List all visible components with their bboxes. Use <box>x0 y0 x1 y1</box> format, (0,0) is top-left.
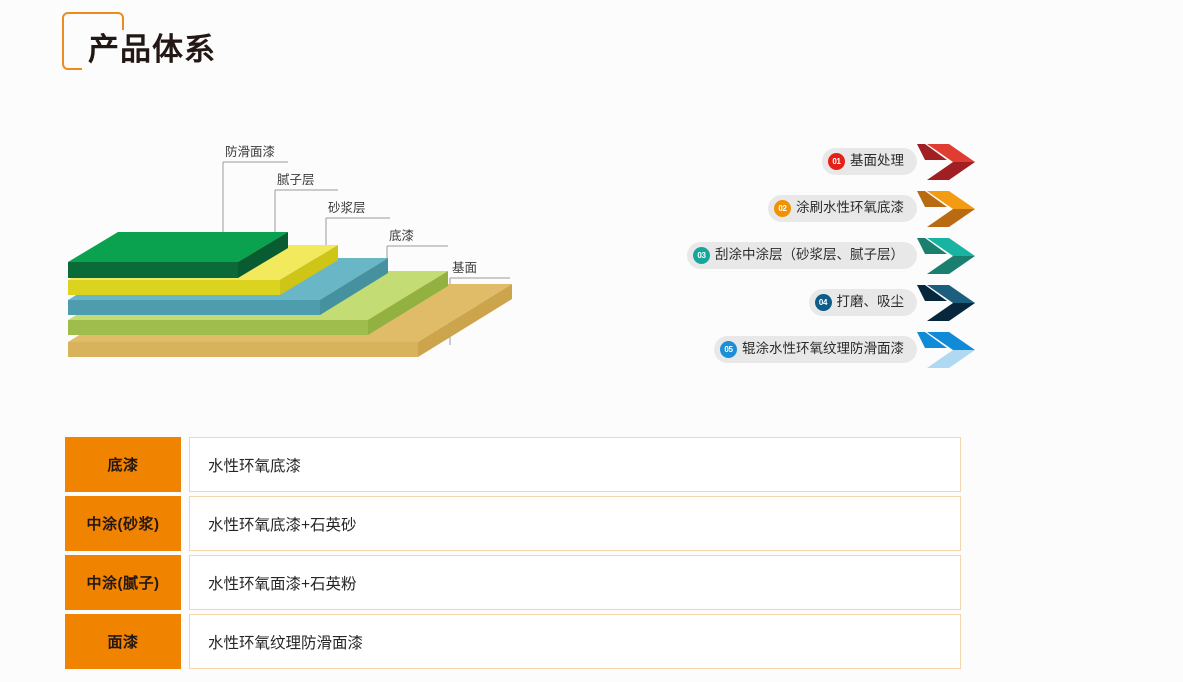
chevron-arrow-icon-1 <box>917 142 975 186</box>
process-step-4[interactable]: 04 打磨、吸尘 <box>655 286 975 318</box>
table-row: 中涂(砂浆) 水性环氧底漆+石英砂 <box>65 496 961 551</box>
spec-value-midcoat-putty: 水性环氧面漆+石英粉 <box>189 555 961 610</box>
layer-label-topcoat: 防滑面漆 <box>225 146 275 159</box>
process-step-1-label: 基面处理 <box>850 154 904 168</box>
process-step-5-pill[interactable]: 05 辊涂水性环氧纹理防滑面漆 <box>714 336 917 363</box>
process-step-3-pill[interactable]: 03 刮涂中涂层（砂浆层、腻子层） <box>687 242 917 269</box>
step-number-badge-05: 05 <box>720 341 737 358</box>
product-spec-table: 底漆 水性环氧底漆 中涂(砂浆) 水性环氧底漆+石英砂 中涂(腻子) 水性环氧面… <box>65 437 961 673</box>
step-number-badge-01: 01 <box>828 153 845 170</box>
step-number-badge-02: 02 <box>774 200 791 217</box>
table-row: 面漆 水性环氧纹理防滑面漆 <box>65 614 961 669</box>
process-step-2[interactable]: 02 涂刷水性环氧底漆 <box>655 192 975 224</box>
step-number-badge-03: 03 <box>693 247 710 264</box>
process-step-1-pill[interactable]: 01 基面处理 <box>822 148 917 175</box>
process-steps: 01 基面处理 02 涂刷水性环氧底漆 03 刮涂中涂层 <box>655 140 975 350</box>
page-title: 产品体系 <box>88 34 216 65</box>
process-step-2-label: 涂刷水性环氧底漆 <box>796 201 904 215</box>
table-row: 中涂(腻子) 水性环氧面漆+石英粉 <box>65 555 961 610</box>
process-step-5-label: 辊涂水性环氧纹理防滑面漆 <box>742 342 904 356</box>
spec-key-primer: 底漆 <box>65 437 181 492</box>
spec-value-topcoat: 水性环氧纹理防滑面漆 <box>189 614 961 669</box>
spec-key-midcoat-putty: 中涂(腻子) <box>65 555 181 610</box>
layer-label-mortar: 砂浆层 <box>328 202 366 215</box>
layer-label-primer: 底漆 <box>389 230 414 243</box>
process-step-4-label: 打磨、吸尘 <box>837 295 905 309</box>
process-step-3[interactable]: 03 刮涂中涂层（砂浆层、腻子层） <box>655 239 975 271</box>
chevron-arrow-icon-2 <box>917 189 975 233</box>
spec-value-midcoat-mortar: 水性环氧底漆+石英砂 <box>189 496 961 551</box>
process-step-3-label: 刮涂中涂层（砂浆层、腻子层） <box>715 248 904 262</box>
spec-value-primer: 水性环氧底漆 <box>189 437 961 492</box>
page-title-block: 产品体系 <box>62 12 302 82</box>
process-step-4-pill[interactable]: 04 打磨、吸尘 <box>809 289 918 316</box>
layer-label-putty: 腻子层 <box>277 174 315 187</box>
chevron-arrow-icon-5 <box>917 330 975 374</box>
spec-key-midcoat-mortar: 中涂(砂浆) <box>65 496 181 551</box>
table-row: 底漆 水性环氧底漆 <box>65 437 961 492</box>
coating-layer-diagram: 防滑面漆 腻子层 砂浆层 底漆 基面 <box>60 132 580 372</box>
spec-key-topcoat: 面漆 <box>65 614 181 669</box>
process-step-5[interactable]: 05 辊涂水性环氧纹理防滑面漆 <box>655 333 975 365</box>
chevron-arrow-icon-3 <box>917 236 975 280</box>
step-number-badge-04: 04 <box>815 294 832 311</box>
chevron-arrow-icon-4 <box>917 283 975 327</box>
process-step-1[interactable]: 01 基面处理 <box>655 145 975 177</box>
process-step-2-pill[interactable]: 02 涂刷水性环氧底漆 <box>768 195 917 222</box>
layer-stack-svg <box>60 132 580 372</box>
layer-label-substrate: 基面 <box>452 262 477 275</box>
